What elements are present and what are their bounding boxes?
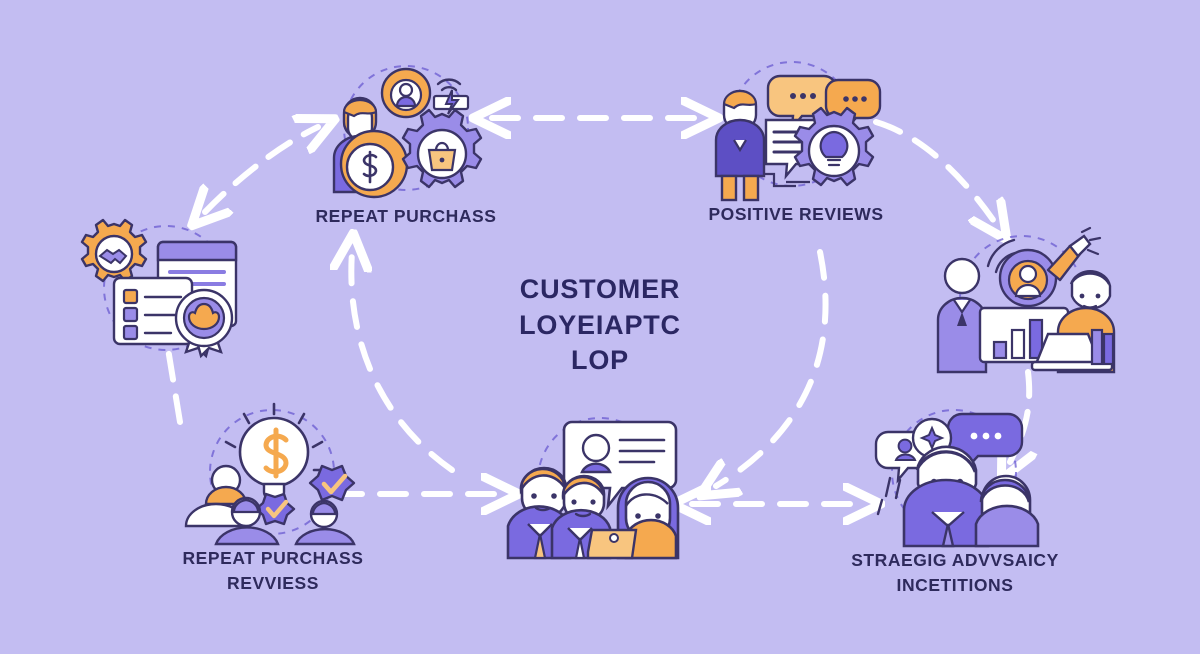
page-title: CUSTOMER LOYEIAPTC LOP <box>430 272 770 379</box>
node-label-strategic-advocacy: STRAEGIG ADVVSAICY INCETITIONS <box>828 548 1082 598</box>
advocacy-people-icon <box>862 400 1048 546</box>
reviews-feedback-icon <box>706 58 882 200</box>
presentation-growth-icon <box>932 226 1114 374</box>
conn-left-to-top <box>205 127 318 212</box>
node-label-positive-reviews: POSITIVE REVIEWS <box>696 202 896 227</box>
loyalty-gear-wallet-icon <box>318 62 494 202</box>
certificate-checklist-icon <box>74 216 254 356</box>
infographic-canvas: REPEAT PURCHASS <box>0 0 1200 654</box>
node-label-repeat-purchase-reviews: REPEAT PURCHASS REVVIESS <box>148 546 398 596</box>
node-label-repeat-purchase-top: REPEAT PURCHASS <box>306 204 506 229</box>
customer-team-profile-icon <box>508 406 692 558</box>
value-team-approval-icon <box>182 400 364 544</box>
